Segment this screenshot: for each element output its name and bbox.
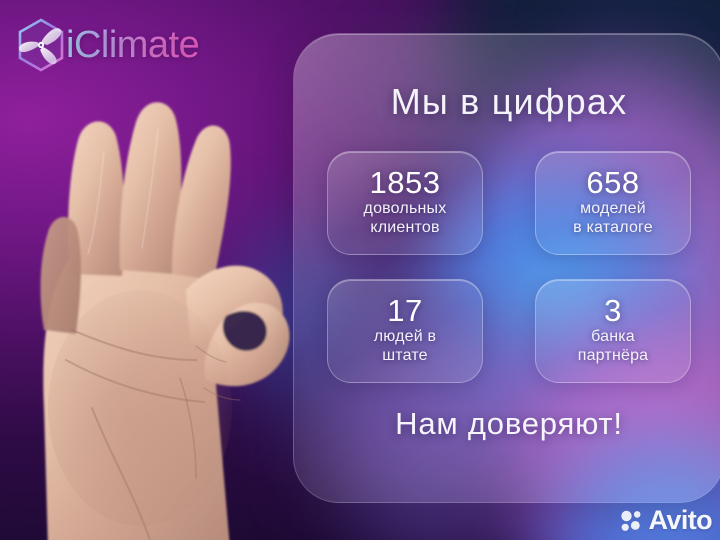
brand-logo[interactable]: iClimate bbox=[12, 16, 199, 74]
hand-photo bbox=[0, 78, 330, 540]
panel-tagline: Нам доверяют! bbox=[293, 406, 720, 442]
stat-card-models[interactable]: 658 моделей в каталоге bbox=[535, 151, 691, 255]
stat-value: 17 bbox=[387, 295, 422, 328]
stat-card-clients[interactable]: 1853 довольных клиентов bbox=[327, 151, 483, 255]
stat-card-banks[interactable]: 3 банка партнёра bbox=[535, 279, 691, 383]
stat-label: банка партнёра bbox=[578, 328, 649, 365]
brand-name: iClimate bbox=[66, 26, 199, 64]
avito-watermark: Avito bbox=[620, 507, 713, 534]
stat-label: довольных клиентов bbox=[364, 200, 447, 237]
stats-card-grid: 1853 довольных клиентов 658 моделей в ка… bbox=[327, 151, 691, 383]
stat-value: 1853 bbox=[370, 167, 441, 200]
stat-value: 3 bbox=[604, 295, 622, 328]
stat-label: моделей в каталоге bbox=[573, 200, 653, 237]
avito-wordmark: Avito bbox=[649, 507, 713, 534]
stat-value: 658 bbox=[586, 167, 639, 200]
stat-card-staff[interactable]: 17 людей в штате bbox=[327, 279, 483, 383]
stats-panel-content: Мы в цифрах 1853 довольных клиентов 658 … bbox=[293, 33, 720, 503]
promo-banner: iClimate Мы в цифрах 1853 довольных клие… bbox=[0, 0, 720, 540]
stat-label: людей в штате bbox=[374, 328, 437, 365]
avito-dots-icon bbox=[620, 509, 644, 533]
panel-headline: Мы в цифрах bbox=[293, 81, 720, 123]
hexagon-fan-turbine-icon bbox=[12, 16, 70, 74]
